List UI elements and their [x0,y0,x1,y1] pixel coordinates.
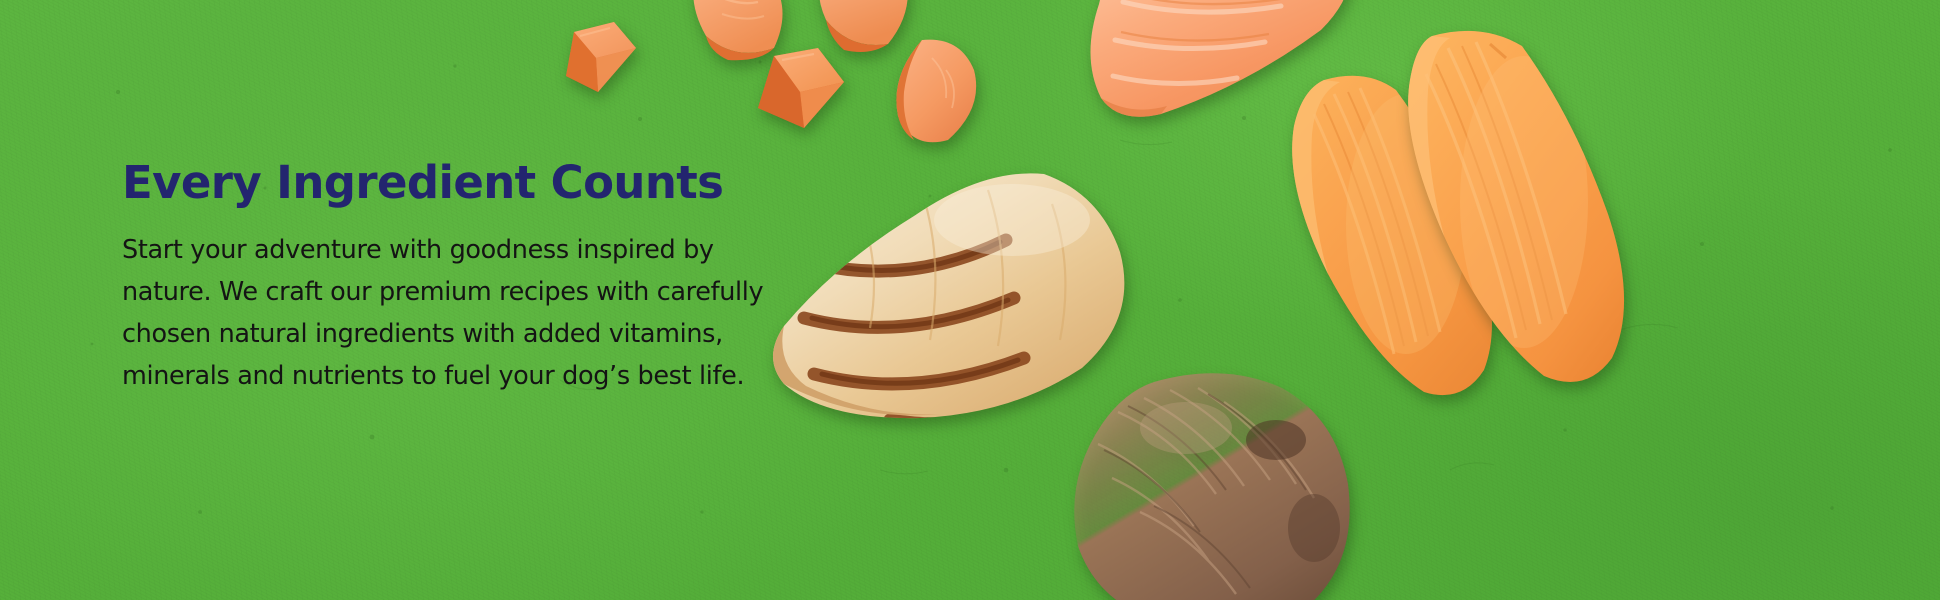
sweet-potato-cube-icon [552,18,644,96]
sweet-potato-cube-icon [748,46,852,132]
grilled-beef-steak-icon [1058,366,1358,600]
body-line-3: chosen natural ingredients with added vi… [122,313,912,355]
body-paragraph: Start your adventure with goodness inspi… [122,229,912,397]
body-line-1: Start your adventure with goodness inspi… [122,229,912,271]
hero-banner: Every Ingredient Counts Start your adven… [0,0,1940,600]
sweet-potato-half-icon [1378,32,1646,388]
body-line-2: nature. We craft our premium recipes wit… [122,271,912,313]
copy-block: Every Ingredient Counts Start your adven… [122,160,912,397]
page-title: Every Ingredient Counts [122,160,912,207]
sweet-potato-slice-icon [888,36,986,148]
body-line-4: minerals and nutrients to fuel your dog’… [122,355,912,397]
